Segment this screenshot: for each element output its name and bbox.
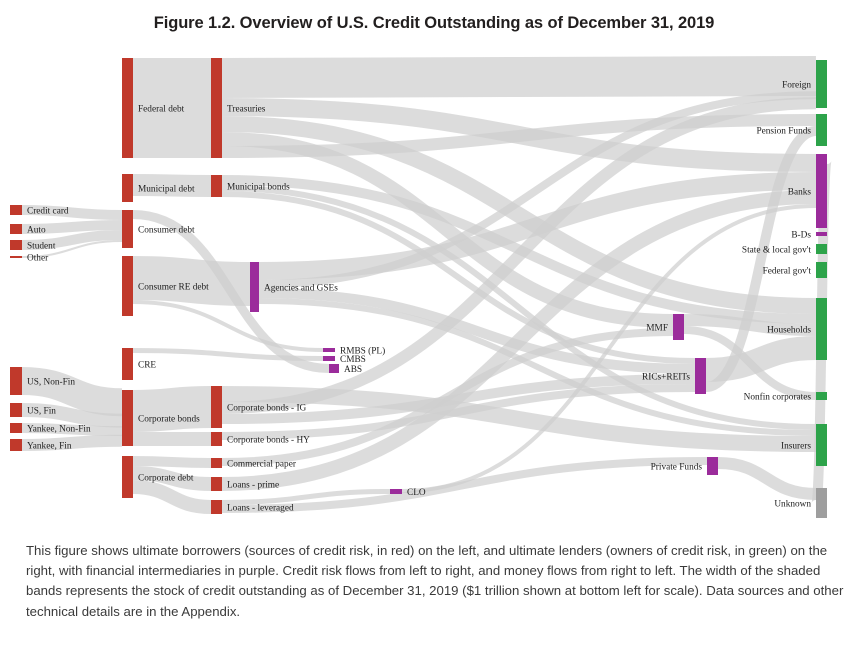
sankey-link: [222, 76, 816, 78]
node-label-abs: ABS: [344, 365, 362, 375]
node-bar-nonfin-corporates[interactable]: [816, 392, 827, 400]
sankey-node-credit-card[interactable]: Credit card: [10, 205, 69, 216]
node-label-consumer-debt: Consumer debt: [138, 225, 195, 235]
node-label-municipal-bonds: Municipal bonds: [227, 182, 290, 192]
page-title: Figure 1.2. Overview of U.S. Credit Outs…: [0, 14, 868, 33]
node-bar-yankee-non-fin[interactable]: [10, 423, 22, 433]
node-bar-loans-prime[interactable]: [211, 477, 222, 491]
node-bar-foreign[interactable]: [816, 60, 827, 108]
node-bar-federal-debt[interactable]: [122, 58, 133, 158]
node-bar-mmf[interactable]: [673, 314, 684, 340]
node-bar-corporate-bonds-hy[interactable]: [211, 432, 222, 446]
node-label-credit-card: Credit card: [27, 206, 69, 216]
sankey-node-cmbs[interactable]: CMBS: [323, 355, 366, 365]
node-label-agencies-gses: Agencies and GSEs: [264, 283, 338, 293]
node-label-insurers: Insurers: [781, 441, 811, 451]
node-label-other: Other: [27, 253, 49, 263]
node-label-us-non-fin: US, Non-Fin: [27, 377, 75, 387]
node-bar-loans-leveraged[interactable]: [211, 500, 222, 514]
node-label-corporate-debt: Corporate debt: [138, 473, 194, 483]
node-bar-municipal-bonds[interactable]: [211, 175, 222, 197]
node-bar-corporate-debt[interactable]: [122, 456, 133, 498]
sankey-link: [133, 302, 323, 350]
node-bar-corporate-bonds[interactable]: [122, 390, 133, 446]
node-bar-households[interactable]: [816, 298, 827, 360]
node-bar-banks[interactable]: [816, 154, 827, 228]
node-bar-commercial-paper[interactable]: [211, 458, 222, 468]
figure-caption: This figure shows ultimate borrowers (so…: [26, 541, 844, 622]
sankey-link: [718, 463, 816, 494]
node-label-cre: CRE: [138, 360, 156, 370]
node-label-corporate-bonds-ig: Corporate bonds - IG: [227, 403, 307, 413]
node-label-federal-govt: Federal gov't: [763, 266, 812, 276]
sankey-links-layer: [22, 76, 827, 509]
node-label-consumer-re-debt: Consumer RE debt: [138, 282, 209, 292]
sankey-link: [706, 348, 816, 370]
node-bar-rics-reits[interactable]: [695, 358, 706, 394]
sankey-canvas: Credit cardAutoStudentOtherUS, Non-FinUS…: [0, 42, 868, 532]
node-label-yankee-fin: Yankee, Fin: [27, 441, 72, 451]
node-bar-cre[interactable]: [122, 348, 133, 380]
sankey-node-state-local-govt[interactable]: State & local gov't: [742, 244, 827, 255]
sankey-link: [133, 351, 323, 359]
node-label-yankee-non-fin: Yankee, Non-Fin: [27, 424, 91, 434]
node-bar-auto[interactable]: [10, 224, 22, 234]
node-bar-treasuries[interactable]: [211, 58, 222, 158]
sankey-node-auto[interactable]: Auto: [10, 224, 46, 235]
node-label-foreign: Foreign: [782, 80, 811, 90]
node-bar-unknown[interactable]: [816, 488, 827, 518]
node-bar-other[interactable]: [10, 256, 22, 258]
node-bar-us-non-fin[interactable]: [10, 367, 22, 395]
node-label-rics-reits: RICs+REITs: [642, 372, 690, 382]
node-label-banks: Banks: [788, 187, 812, 197]
sankey-link: [133, 461, 211, 463]
node-label-state-local-govt: State & local gov't: [742, 245, 811, 255]
node-label-nonfin-corporates: Nonfin corporates: [744, 391, 812, 402]
node-bar-municipal-debt[interactable]: [122, 174, 133, 202]
node-bar-yankee-fin[interactable]: [10, 439, 22, 451]
node-label-municipal-debt: Municipal debt: [138, 184, 195, 194]
node-label-clo: CLO: [407, 488, 426, 498]
node-label-federal-debt: Federal debt: [138, 104, 185, 114]
node-bar-insurers[interactable]: [816, 424, 827, 466]
node-bar-pension-funds[interactable]: [816, 114, 827, 146]
sankey-node-yankee-fin[interactable]: Yankee, Fin: [10, 439, 72, 451]
node-label-b-ds: B-Ds: [791, 230, 811, 240]
sankey-diagram: Credit cardAutoStudentOtherUS, Non-FinUS…: [0, 42, 868, 532]
node-bar-credit-card[interactable]: [10, 205, 22, 215]
node-bar-us-fin[interactable]: [10, 403, 22, 417]
node-label-pension-funds: Pension Funds: [756, 126, 811, 136]
node-label-loans-prime: Loans - prime: [227, 480, 279, 490]
node-bar-student[interactable]: [10, 240, 22, 250]
node-bar-consumer-re-debt[interactable]: [122, 256, 133, 316]
node-label-households: Households: [767, 325, 811, 335]
sankey-node-federal-govt[interactable]: Federal gov't: [763, 262, 827, 278]
node-bar-private-funds[interactable]: [707, 457, 718, 475]
node-bar-clo[interactable]: [390, 489, 402, 494]
node-label-student: Student: [27, 241, 56, 251]
node-bar-abs[interactable]: [329, 364, 339, 373]
node-label-us-fin: US, Fin: [27, 406, 56, 416]
node-label-auto: Auto: [27, 225, 46, 235]
node-label-treasuries: Treasuries: [227, 104, 266, 114]
sankey-node-student[interactable]: Student: [10, 240, 56, 251]
node-label-private-funds: Private Funds: [651, 462, 703, 472]
node-bar-rmbs-pl[interactable]: [323, 348, 335, 352]
sankey-node-abs[interactable]: ABS: [329, 364, 362, 375]
node-bar-b-ds[interactable]: [816, 232, 827, 236]
node-label-corporate-bonds-hy: Corporate bonds - HY: [227, 435, 310, 445]
node-bar-consumer-debt[interactable]: [122, 210, 133, 248]
node-bar-cmbs[interactable]: [323, 356, 335, 361]
node-bar-federal-govt[interactable]: [816, 262, 827, 278]
node-label-loans-leveraged: Loans - leveraged: [227, 503, 294, 513]
sankey-link: [133, 407, 211, 411]
node-bar-agencies-gses[interactable]: [250, 262, 259, 312]
node-bar-corporate-bonds-ig[interactable]: [211, 386, 222, 428]
node-label-corporate-bonds: Corporate bonds: [138, 414, 200, 424]
node-label-cmbs: CMBS: [340, 355, 366, 365]
node-label-commercial-paper: Commercial paper: [227, 459, 297, 469]
sankey-node-other[interactable]: Other: [10, 253, 49, 263]
node-label-mmf: MMF: [646, 323, 668, 333]
node-label-unknown: Unknown: [774, 499, 811, 509]
node-bar-state-local-govt[interactable]: [816, 244, 827, 254]
